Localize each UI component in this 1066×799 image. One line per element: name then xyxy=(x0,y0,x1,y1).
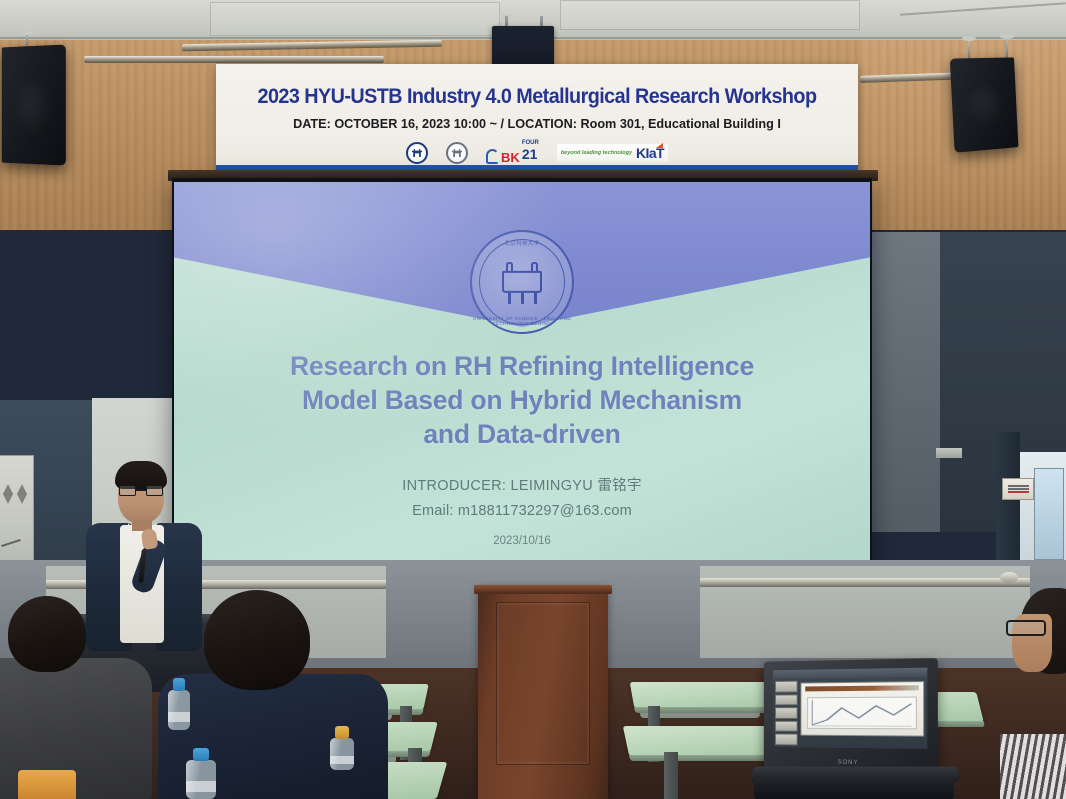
water-bottle[interactable] xyxy=(168,678,190,730)
hyu-seal-logo xyxy=(406,142,428,164)
bottle-label xyxy=(186,781,216,791)
slide-thumbnail[interactable] xyxy=(775,707,798,718)
presentation-slide: 北京科技大学 UNIVERSITY OF SCIENCE · 1952 · AN… xyxy=(174,182,870,574)
slide-thumbnail[interactable] xyxy=(775,721,798,732)
laptop-current-slide xyxy=(800,681,924,737)
presentation-toolbar[interactable] xyxy=(773,668,927,679)
projection-screen: 北京科技大学 UNIVERSITY OF SCIENCE · 1952 · AN… xyxy=(172,178,872,578)
ceiling-panel xyxy=(560,0,860,30)
slide-title: Research on RH Refining Intelligence Mod… xyxy=(174,350,870,452)
emblem-chinese-name: 北京科技大学 xyxy=(472,239,572,247)
kiat-wordmark: KIaT xyxy=(636,145,664,161)
ding-leg xyxy=(508,293,511,304)
glasses-lens xyxy=(146,485,163,496)
slide-email: Email: m18811732297@163.com xyxy=(174,503,870,519)
ding-body xyxy=(502,271,542,293)
speaker-mount xyxy=(962,36,976,41)
screen-pull-knob[interactable] xyxy=(1000,572,1018,583)
conference-room-photo: 2023 HYU-USTB Industry 4.0 Metallurgical… xyxy=(0,0,1066,799)
chalk-tray-right xyxy=(700,578,1030,587)
slide-introducer: INTRODUCER: LEIMINGYU 雷铭宇 xyxy=(174,474,870,495)
bk21-bk-label: BK xyxy=(501,151,520,164)
laptop-keyboard[interactable] xyxy=(754,776,954,799)
ustb-seal-logo xyxy=(446,142,468,164)
cabinet-handle[interactable] xyxy=(1,539,21,547)
laptop-screen[interactable] xyxy=(773,668,927,749)
audience-head xyxy=(8,596,86,672)
bottle-label xyxy=(330,756,354,764)
ceiling-panel xyxy=(210,2,500,36)
ceiling-speaker-right xyxy=(950,57,1019,152)
corridor-window xyxy=(1034,468,1064,560)
ding-leg xyxy=(521,293,524,304)
ceiling-speaker-left xyxy=(2,44,66,165)
slide-title-line-3: and Data-driven xyxy=(174,418,870,452)
bk21-four-logo: BK FOUR 21 xyxy=(486,142,539,164)
sign-text-line xyxy=(1008,488,1029,490)
audience-head xyxy=(204,590,310,690)
bottle-cap xyxy=(173,678,185,691)
bottle-body xyxy=(168,690,190,730)
event-banner: 2023 HYU-USTB Industry 4.0 Metallurgical… xyxy=(216,64,858,174)
glasses-bridge xyxy=(136,489,146,491)
speaker-cone xyxy=(965,85,1006,131)
wooden-lectern xyxy=(478,590,608,799)
wall-rail xyxy=(84,56,384,63)
bk21-head-icon xyxy=(486,149,499,164)
water-bottle[interactable] xyxy=(330,726,354,770)
slide-title-line-1: Research on RH Refining Intelligence xyxy=(174,350,870,384)
slide-title-line-2: Model Based on Hybrid Mechanism xyxy=(174,384,870,418)
ding-vessel-icon xyxy=(498,261,546,305)
slide-date: 2023/10/16 xyxy=(174,535,870,547)
laptop-slide-chart xyxy=(807,697,917,730)
speaker-cone xyxy=(14,81,52,138)
water-bottle[interactable] xyxy=(186,748,216,799)
bottle-body xyxy=(186,760,216,799)
slide-thumbnail[interactable] xyxy=(775,694,798,705)
lectern-front-panel xyxy=(496,602,590,765)
ustb-university-emblem: 北京科技大学 UNIVERSITY OF SCIENCE · 1952 · AN… xyxy=(470,230,574,334)
laptop-chart-curve-icon xyxy=(808,698,916,729)
speaker-mount xyxy=(1000,34,1014,39)
banner-title: 2023 HYU-USTB Industry 4.0 Metallurgical… xyxy=(242,84,833,109)
desk-leg xyxy=(664,752,678,799)
lectern-top xyxy=(474,585,612,594)
bottle-body xyxy=(330,738,354,770)
speaker-mount xyxy=(20,30,34,35)
emblem-english-name: UNIVERSITY OF SCIENCE · 1952 · AND TECHN… xyxy=(472,316,572,326)
sign-text-line xyxy=(1008,485,1029,487)
audience-member-right xyxy=(1004,584,1066,799)
bottle-cap xyxy=(335,726,348,739)
diamond-motif-icon xyxy=(17,484,27,504)
bottle-cap xyxy=(193,748,210,761)
slide-thumbnail[interactable] xyxy=(775,681,798,693)
bottle-label xyxy=(168,712,190,722)
sign-text-line-highlight xyxy=(1008,491,1029,493)
glasses-icon xyxy=(1006,620,1046,636)
ding-leg xyxy=(534,293,537,304)
audience-laptop[interactable]: SONY xyxy=(752,660,962,799)
slide-thumbnail[interactable] xyxy=(775,734,798,746)
laptop-slide-title-bar xyxy=(805,685,919,691)
kiat-logo: beyond leading technology KIaT xyxy=(557,144,668,162)
diamond-motif-icon xyxy=(3,484,13,504)
glasses-icon xyxy=(119,485,163,496)
audience-member-left xyxy=(0,596,140,799)
glasses-lens xyxy=(119,485,136,496)
bk21-number-group: FOUR 21 xyxy=(522,140,539,164)
banner-logo-row: BK FOUR 21 beyond leading technology KIa… xyxy=(216,140,858,166)
kiat-slogan: beyond leading technology xyxy=(561,150,632,156)
bk21-number-label: 21 xyxy=(522,146,538,162)
slide-thumbnail-panel[interactable] xyxy=(775,681,798,746)
door-room-sign xyxy=(1002,478,1034,500)
wall-vent xyxy=(936,448,962,458)
side-wall-right-grey xyxy=(870,232,940,532)
snack-item xyxy=(18,770,76,799)
banner-subtitle: DATE: OCTOBER 16, 2023 10:00 ~ / LOCATIO… xyxy=(229,116,845,131)
audience-striped-shirt xyxy=(1000,734,1066,799)
laptop-brand-label: SONY xyxy=(838,760,859,766)
laptop-lid: SONY xyxy=(764,658,938,772)
